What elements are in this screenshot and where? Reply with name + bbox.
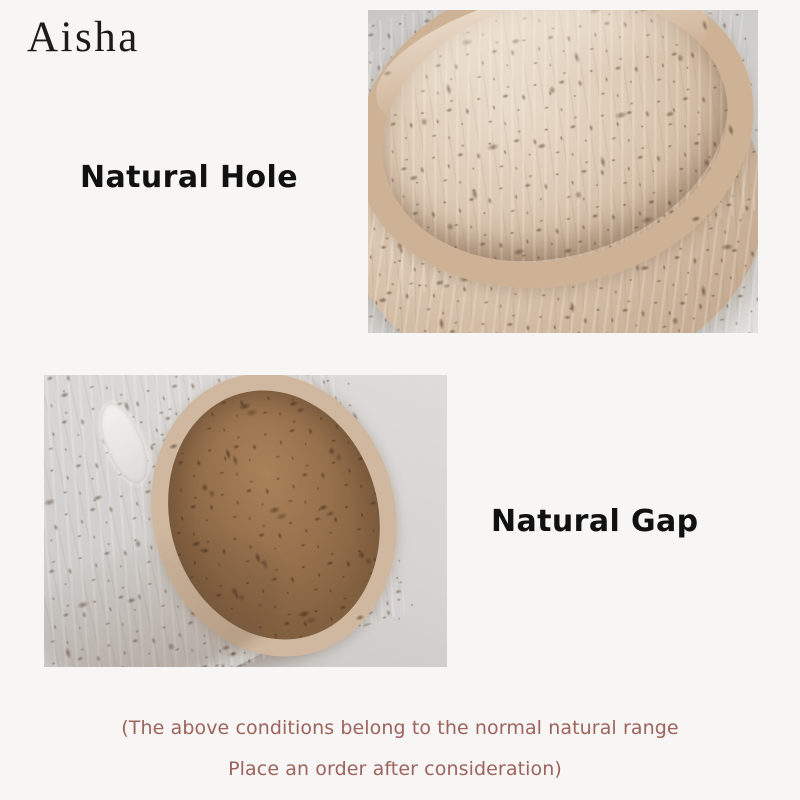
disclaimer-text: (The above conditions belong to the norm… [0, 708, 800, 790]
disclaimer-line-2: Place an order after consideration) [0, 749, 800, 790]
photo-canvas-bowl [368, 10, 758, 333]
disclaimer-line-1: (The above conditions belong to the norm… [0, 708, 800, 749]
callout-label-natural-hole: Natural Hole [80, 163, 298, 193]
callout-label-natural-gap: Natural Gap [491, 507, 699, 537]
photo-canvas-cylinder [44, 375, 447, 667]
product-photo-travertine-bowl [368, 10, 758, 333]
product-detail-page: Aisha Natural Hole [0, 0, 800, 800]
brand-wordmark: Aisha [27, 16, 140, 59]
stone-bowl-graphic [368, 23, 758, 333]
product-photo-travertine-cylinder [44, 375, 447, 667]
